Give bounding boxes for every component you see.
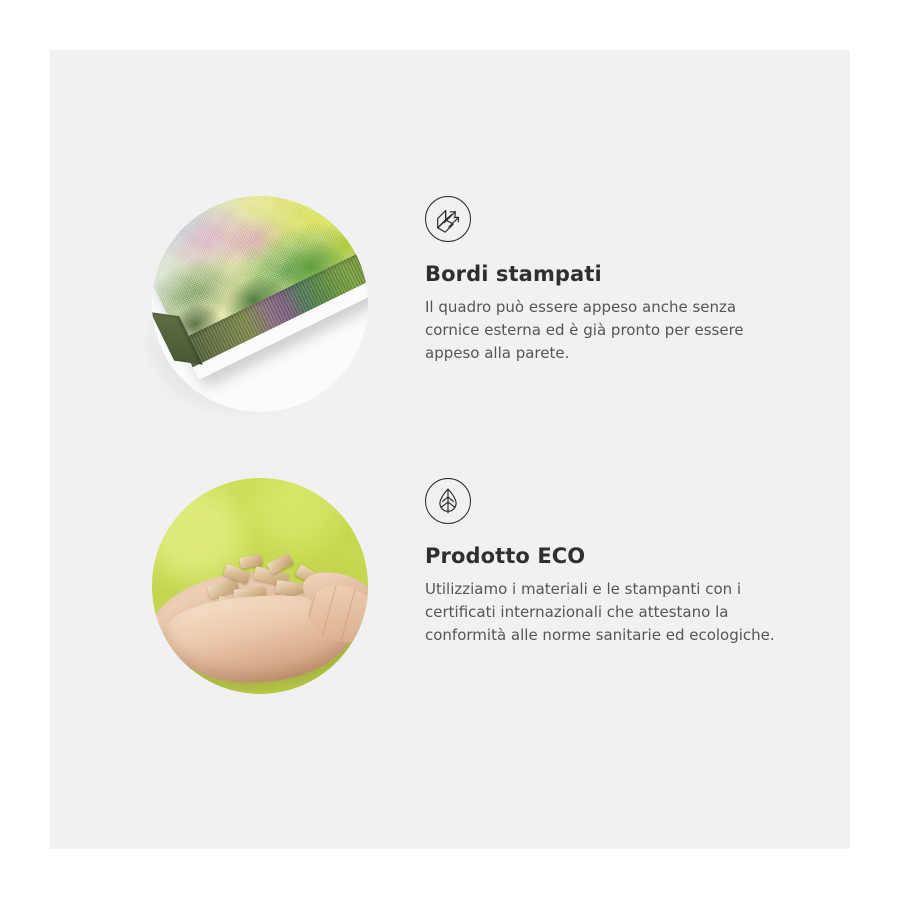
feature-2-text-column: Prodotto ECO Utilizziamo i materiali e l…: [425, 478, 803, 647]
canvas-print-corner-photo: [152, 196, 368, 412]
feature-2-description: Utilizziamo i materiali e le stampanti c…: [425, 578, 789, 647]
printed-edges-icon-glyph: [433, 204, 463, 234]
feature-1-photo-wrap: [152, 196, 368, 412]
feature-2-title: Prodotto ECO: [425, 544, 803, 569]
hands-with-wood-chips-photo: [152, 478, 368, 694]
printed-edges-icon: [425, 196, 471, 242]
feature-2-photo-wrap: [152, 478, 368, 694]
product-feature-page: Bordi stampati Il quadro può essere appe…: [0, 0, 900, 900]
feature-1-title: Bordi stampati: [425, 262, 803, 287]
feature-1-text-column: Bordi stampati Il quadro può essere appe…: [425, 196, 803, 365]
leaf-icon: [425, 478, 471, 524]
leaf-icon-glyph: [433, 486, 463, 516]
feature-1-description: Il quadro può essere appeso anche senza …: [425, 296, 789, 365]
canvas-block: [152, 196, 368, 380]
content-panel: Bordi stampati Il quadro può essere appe…: [50, 50, 850, 849]
